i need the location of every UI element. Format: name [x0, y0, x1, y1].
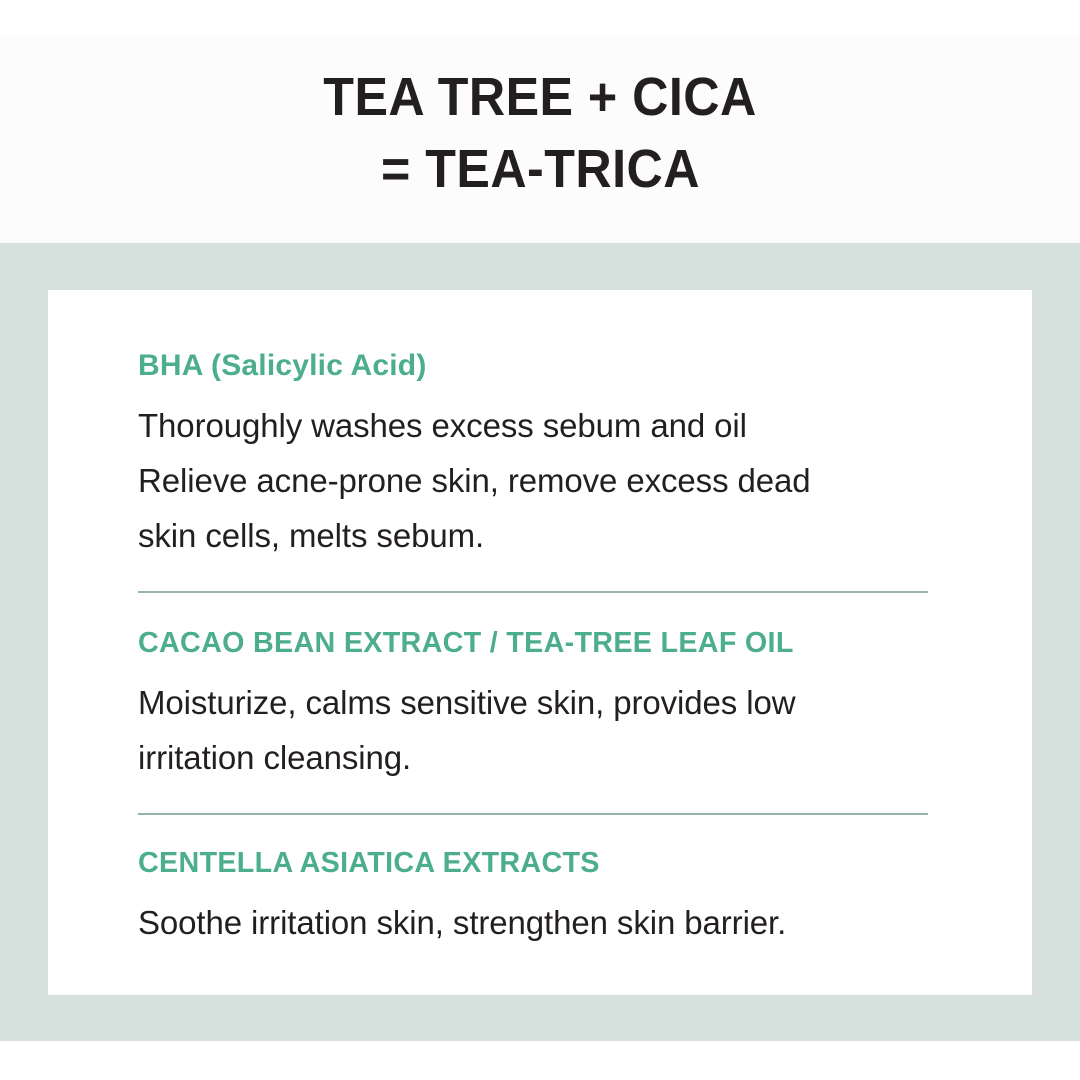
ingredient-section-bha: BHA (Salicylic Acid) Thoroughly washes e…: [138, 290, 976, 563]
body-line: Relieve acne-prone skin, remove excess d…: [138, 453, 976, 508]
body-line: Soothe irritation skin, strengthen skin …: [138, 895, 976, 950]
ingredient-section-centella: CENTELLA ASIATICA EXTRACTS Soothe irrita…: [138, 815, 976, 950]
body-line: skin cells, melts sebum.: [138, 508, 976, 563]
top-margin: [0, 0, 1080, 35]
header-banner: TEA TREE + CICA = TEA-TRICA: [0, 35, 1080, 243]
body-line: Thoroughly washes excess sebum and oil: [138, 398, 976, 453]
ingredient-body-centella: Soothe irritation skin, strengthen skin …: [138, 895, 976, 950]
body-line: irritation cleansing.: [138, 730, 976, 785]
ingredient-body-bha: Thoroughly washes excess sebum and oil R…: [138, 398, 976, 563]
ingredients-card: BHA (Salicylic Acid) Thoroughly washes e…: [48, 290, 1032, 995]
divider-wrap-2: [138, 785, 976, 815]
ingredient-heading-cacao-teatree: CACAO BEAN EXTRACT / TEA-TREE LEAF OIL: [138, 625, 968, 661]
header-title-line-2: = TEA-TRICA: [381, 133, 700, 205]
green-band: BHA (Salicylic Acid) Thoroughly washes e…: [0, 243, 1080, 1041]
ingredients-list: BHA (Salicylic Acid) Thoroughly washes e…: [138, 290, 976, 950]
ingredient-body-cacao-teatree: Moisturize, calms sensitive skin, provid…: [138, 675, 976, 785]
header-title-line-1: TEA TREE + CICA: [323, 61, 756, 133]
divider-wrap-1: [138, 563, 976, 593]
ingredient-infographic: TEA TREE + CICA = TEA-TRICA BHA (Salicyl…: [0, 0, 1080, 1080]
bottom-margin: [0, 1041, 1080, 1080]
ingredient-heading-centella: CENTELLA ASIATICA EXTRACTS: [138, 845, 968, 881]
ingredient-heading-bha: BHA (Salicylic Acid): [138, 348, 976, 384]
body-line: Moisturize, calms sensitive skin, provid…: [138, 675, 976, 730]
ingredient-section-cacao-teatree: CACAO BEAN EXTRACT / TEA-TREE LEAF OIL M…: [138, 593, 976, 785]
